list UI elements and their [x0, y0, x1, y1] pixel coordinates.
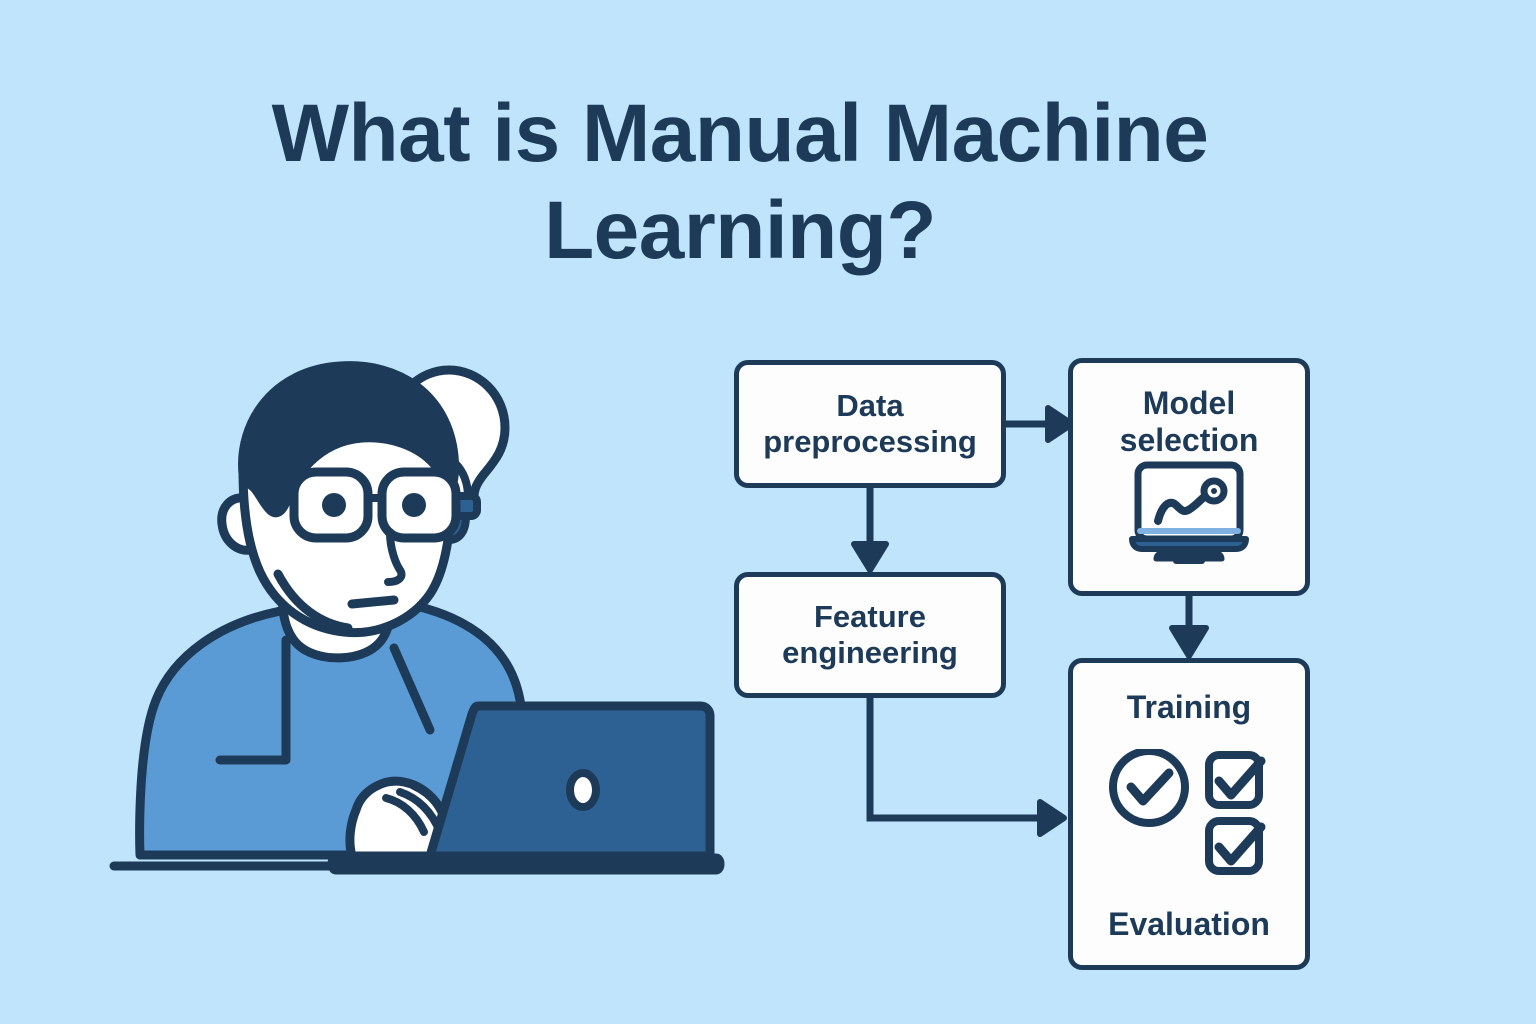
flow-node-feature-engineering-line-1: Feature — [814, 599, 926, 635]
flow-node-model-selection-line-2: selection — [1120, 422, 1259, 459]
page-title-line-1: What is Manual Machine — [120, 86, 1360, 183]
checkbox-checked-icon-1 — [1209, 755, 1261, 805]
infographic-canvas: What is Manual Machine Learning? — [0, 0, 1536, 1024]
arrow-data-preprocessing-to-feature-engineering — [854, 488, 886, 570]
person-head — [243, 366, 456, 633]
flow-node-evaluation-label: Evaluation — [1108, 906, 1270, 943]
arrow-data-preprocessing-to-model-selection — [1006, 408, 1072, 440]
flow-node-feature-engineering[interactable]: Feature engineering — [734, 572, 1006, 698]
checkbox-checked-icon-2 — [1209, 821, 1261, 871]
ml-workflow-flowchart: Data preprocessing Feature engineering M… — [700, 340, 1380, 1000]
check-circle-icon — [1113, 751, 1185, 823]
glasses-icon — [276, 472, 456, 538]
flow-node-training-label: Training — [1127, 689, 1251, 726]
flow-node-model-selection[interactable]: Model selection — [1068, 358, 1310, 596]
arrow-model-selection-to-training — [1172, 596, 1206, 656]
flow-node-model-selection-line-1: Model — [1143, 385, 1235, 422]
check-circle-and-checkboxes-icon — [1099, 749, 1279, 884]
arrow-feature-engineering-to-training — [870, 698, 1064, 834]
monitor-chart-icon — [1124, 459, 1254, 572]
flow-node-training-evaluation[interactable]: Training — [1068, 658, 1310, 970]
page-title-line-2: Learning? — [120, 183, 1360, 280]
flow-node-data-preprocessing-line-2: preprocessing — [763, 424, 977, 460]
person-at-laptop-illustration — [100, 350, 740, 895]
flow-node-feature-engineering-line-2: engineering — [782, 635, 958, 671]
page-title: What is Manual Machine Learning? — [120, 86, 1360, 280]
flow-node-data-preprocessing[interactable]: Data preprocessing — [734, 360, 1006, 488]
flow-node-data-preprocessing-line-1: Data — [836, 388, 903, 424]
